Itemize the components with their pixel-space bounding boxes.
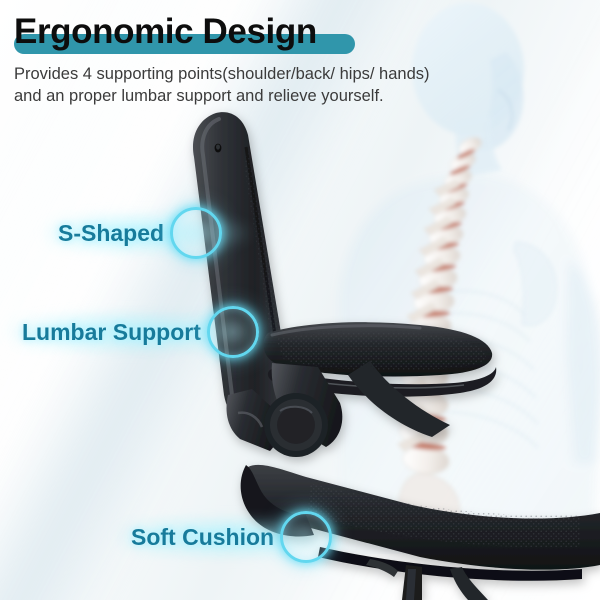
callout-label-s-shaped: S-Shaped [58, 220, 164, 247]
callout-ring-icon [280, 511, 332, 563]
callout-lumbar-support: Lumbar Support [22, 306, 259, 358]
subtitle-text: Provides 4 supporting points(shoulder/ba… [14, 64, 519, 108]
callout-soft-cushion: Soft Cushion [131, 511, 332, 563]
callout-label-soft-cushion: Soft Cushion [131, 524, 274, 551]
callout-ring-icon [170, 207, 222, 259]
page-title: Ergonomic Design [14, 10, 317, 56]
title-text: Ergonomic Design [14, 10, 317, 54]
product-feature-poster: Ergonomic Design Provides 4 supporting p… [0, 0, 600, 600]
header-block: Ergonomic Design Provides 4 supporting p… [0, 0, 534, 108]
callout-ring-icon [207, 306, 259, 358]
callout-label-lumbar-support: Lumbar Support [22, 319, 201, 346]
callout-s-shaped: S-Shaped [58, 207, 222, 259]
